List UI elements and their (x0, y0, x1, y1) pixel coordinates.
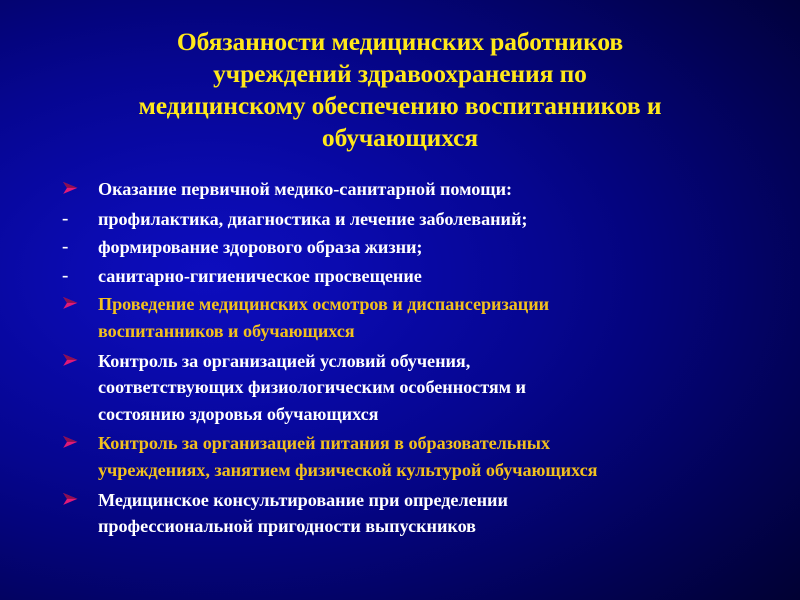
list-item-line: Контроль за организацией условий обучени… (98, 348, 764, 375)
list-item-line: профессиональной пригодности выпускников (98, 513, 764, 540)
title-line: учреждений здравоохранения по (40, 58, 760, 90)
list-item-line: Проведение медицинских осмотров и диспан… (98, 291, 764, 318)
arrow-marker-icon (62, 430, 88, 454)
list-item-text: Оказание первичной медико-санитарной пом… (98, 176, 764, 203)
list-item-line: учреждениях, занятием физической культур… (98, 457, 764, 484)
title-line: обучающихся (40, 122, 760, 154)
list-item-text: санитарно-гигиеническое просвещение (98, 263, 764, 290)
list-item: -санитарно-гигиеническое просвещение (0, 263, 800, 290)
arrow-marker-icon (62, 176, 88, 200)
list-item: Проведение медицинских осмотров и диспан… (0, 291, 800, 344)
list-item-line: Оказание первичной медико-санитарной пом… (98, 176, 764, 203)
list-item-text: формирование здорового образа жизни; (98, 234, 764, 261)
list-item-line: санитарно-гигиеническое просвещение (98, 263, 764, 290)
list-item: Контроль за организацией питания в образ… (0, 430, 800, 483)
slide-title: Обязанности медицинских работниковучрежд… (40, 26, 760, 154)
list-item-line: состоянию здоровья обучающихся (98, 401, 764, 428)
list-item-line: Контроль за организацией питания в образ… (98, 430, 764, 457)
list-item: - формирование здорового образа жизни; (0, 234, 800, 261)
slide-content-list: Оказание первичной медико-санитарной пом… (0, 176, 800, 543)
list-item-text: профилактика, диагностика и лечение забо… (98, 206, 764, 233)
arrow-marker-icon (62, 487, 88, 511)
arrow-marker-icon (62, 348, 88, 372)
list-item-line: воспитанников и обучающихся (98, 318, 764, 345)
list-item-line: профилактика, диагностика и лечение забо… (98, 206, 764, 233)
list-item-text: Контроль за организацией условий обучени… (98, 348, 764, 428)
list-item-line: формирование здорового образа жизни; (98, 234, 764, 261)
dash-marker: - (62, 206, 88, 231)
list-item: Медицинское консультирование при определ… (0, 487, 800, 540)
list-item-line: Медицинское консультирование при определ… (98, 487, 764, 514)
list-item: -профилактика, диагностика и лечение заб… (0, 206, 800, 233)
title-line: Обязанности медицинских работников (40, 26, 760, 58)
list-item: Контроль за организацией условий обучени… (0, 348, 800, 428)
title-line: медицинскому обеспечению воспитанников и (40, 90, 760, 122)
dash-marker: - (62, 263, 88, 288)
list-item: Оказание первичной медико-санитарной пом… (0, 176, 800, 203)
list-item-text: Проведение медицинских осмотров и диспан… (98, 291, 764, 344)
list-item-text: Медицинское консультирование при определ… (98, 487, 764, 540)
presentation-slide: Обязанности медицинских работниковучрежд… (0, 0, 800, 600)
dash-marker: - (62, 234, 88, 259)
list-item-line: соответствующих физиологическим особенно… (98, 374, 764, 401)
arrow-marker-icon (62, 291, 88, 315)
list-item-text: Контроль за организацией питания в образ… (98, 430, 764, 483)
